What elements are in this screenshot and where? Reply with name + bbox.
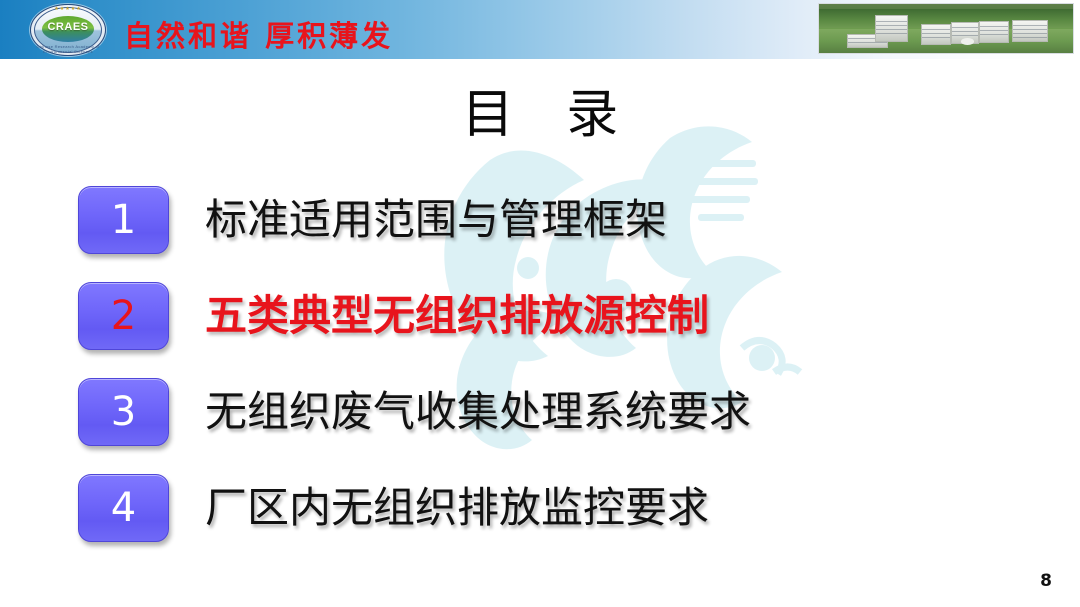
toc-number-badge-1[interactable]: 1 [78,186,169,254]
logo-subtext: Chinese Research Academy of Environmenta… [30,44,106,54]
toc-list: 1 标准适用范围与管理框架 2 五类典型无组织排放源控制 3 无组织废气收集处理… [78,184,1018,568]
photo-building [979,21,1009,44]
toc-label-1: 标准适用范围与管理框架 [205,184,667,256]
toc-number-badge-4[interactable]: 4 [78,474,169,542]
toc-number-badge-3[interactable]: 3 [78,378,169,446]
toc-number-4: 4 [79,475,168,541]
slide-header: ★★★★★ CRAES Chinese Research Academy of … [0,0,1080,59]
toc-item-1[interactable]: 1 标准适用范围与管理框架 [78,184,1018,280]
page-number: 8 [1040,571,1052,591]
campus-aerial-photo [818,3,1074,54]
logo-stars: ★★★★★ [30,6,106,12]
slide: ★★★★★ CRAES Chinese Research Academy of … [0,0,1080,607]
toc-number-3: 3 [79,379,168,445]
header-slogan: 自然和谐 厚积薄发 [124,13,393,55]
page-title: 目 录 [0,72,1080,147]
photo-building [875,15,908,42]
toc-item-4[interactable]: 4 厂区内无组织排放监控要求 [78,472,1018,568]
toc-number-2: 2 [79,283,168,349]
toc-label-4: 厂区内无组织排放监控要求 [205,472,709,544]
photo-building [1012,20,1048,43]
toc-number-1: 1 [79,187,168,253]
toc-label-2: 五类典型无组织排放源控制 [205,280,709,352]
toc-item-2[interactable]: 2 五类典型无组织排放源控制 [78,280,1018,376]
craes-logo: ★★★★★ CRAES Chinese Research Academy of … [30,4,106,56]
toc-item-3[interactable]: 3 无组织废气收集处理系统要求 [78,376,1018,472]
toc-label-3: 无组织废气收集处理系统要求 [205,376,751,448]
photo-building [921,24,951,46]
logo-acronym-text: CRAES [30,21,106,33]
toc-number-badge-2[interactable]: 2 [78,282,169,350]
